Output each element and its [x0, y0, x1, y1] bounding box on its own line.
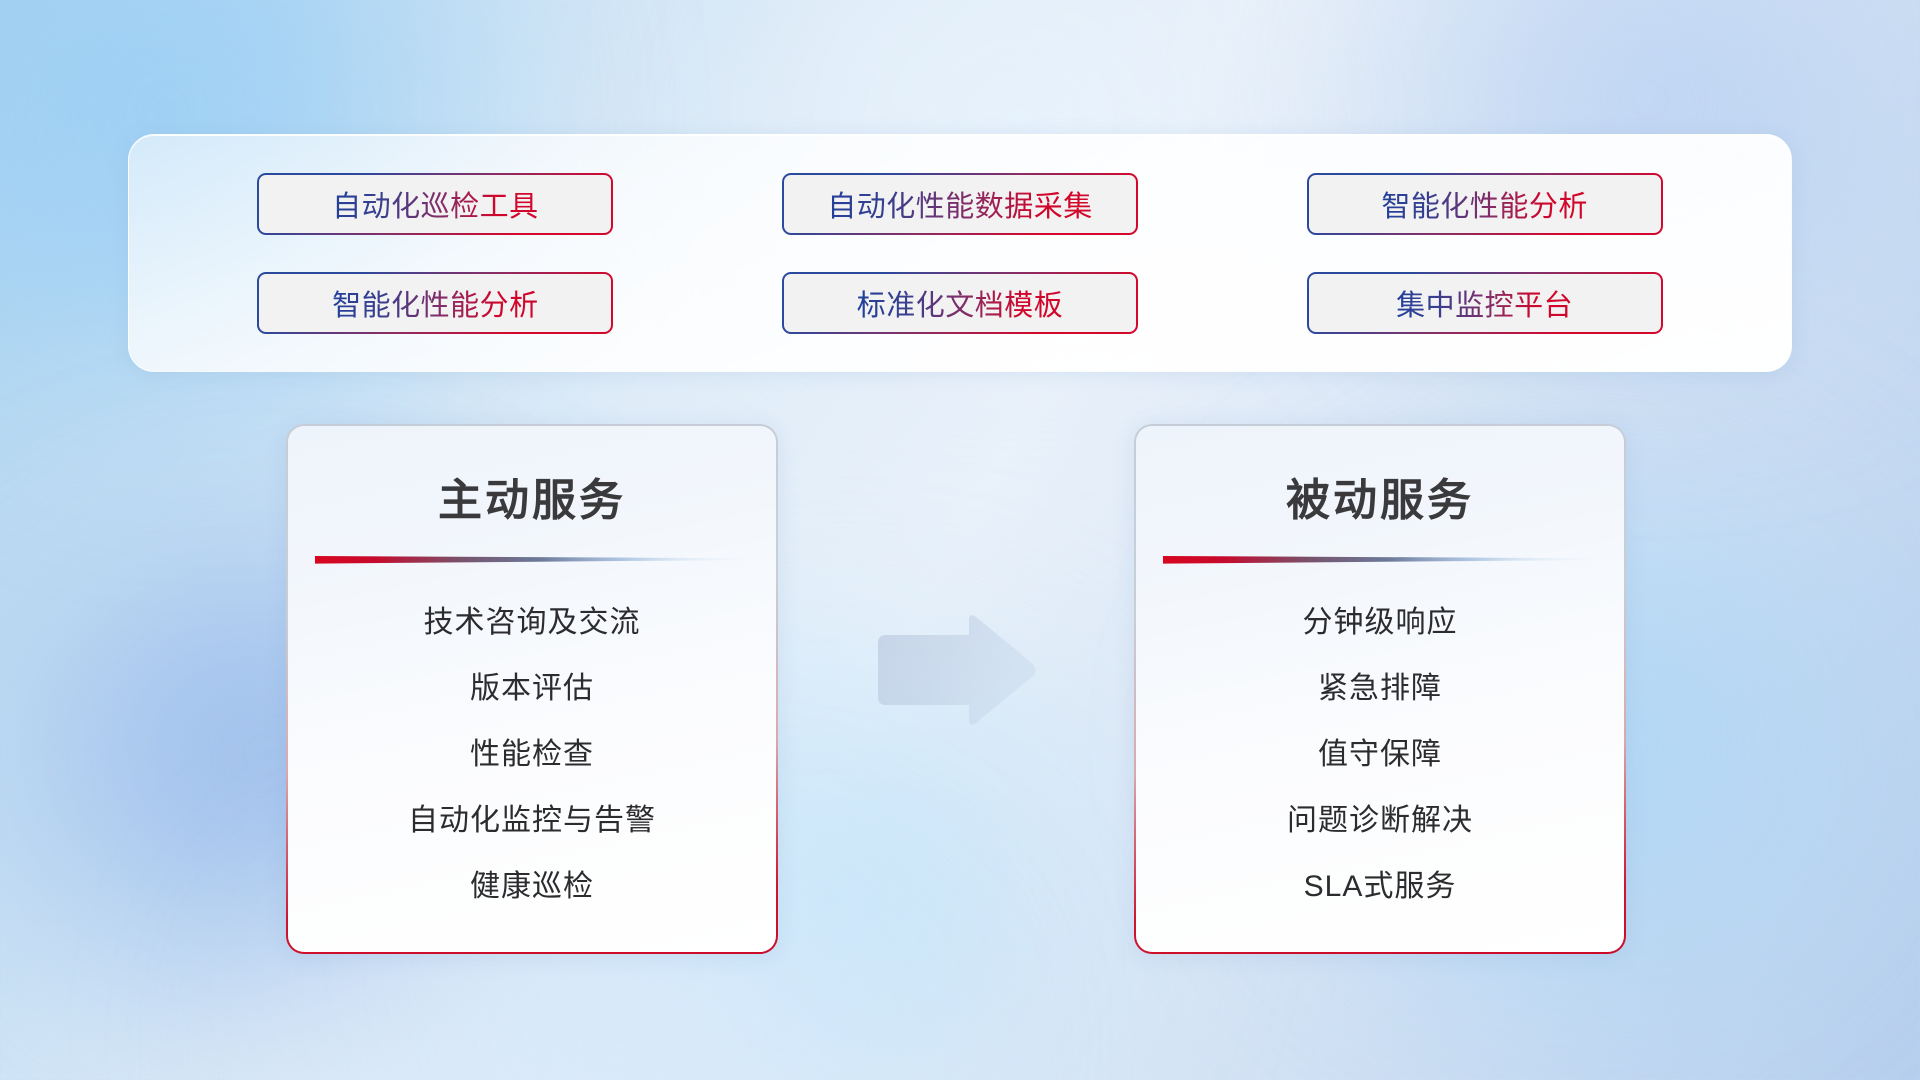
- service-item: 问题诊断解决: [1287, 788, 1473, 854]
- capability-chip-label: 集中监控平台: [1396, 282, 1573, 324]
- service-item: 健康巡检: [470, 854, 594, 920]
- service-item: 值守保障: [1318, 722, 1442, 788]
- capability-chip-label: 自动化巡检工具: [332, 183, 539, 225]
- service-card-reactive[interactable]: 被动服务 分钟级响应 紧急排障 值守保障 问题诊断解决 SLA式服务: [1134, 424, 1626, 954]
- capability-chip-label: 标准化文档模板: [857, 282, 1064, 324]
- service-item: 性能检查: [470, 722, 594, 788]
- service-item: SLA式服务: [1304, 854, 1457, 920]
- capability-chip[interactable]: 集中监控平台: [1307, 272, 1663, 334]
- title-divider: [315, 552, 749, 568]
- service-card-proactive[interactable]: 主动服务 技术咨询及交流 版本评估 性能检查 自动化监控与告警 健康巡检: [286, 424, 778, 954]
- service-card-title: 主动服务: [438, 464, 626, 528]
- capability-chip[interactable]: 自动化巡检工具: [257, 173, 613, 235]
- title-divider: [1163, 552, 1597, 568]
- capability-chip[interactable]: 标准化文档模板: [782, 272, 1138, 334]
- arrow-right-icon: [872, 611, 1040, 729]
- capability-chip-label: 智能化性能分析: [1381, 183, 1588, 225]
- service-item: 技术咨询及交流: [424, 590, 641, 656]
- capability-chip[interactable]: 智能化性能分析: [1307, 173, 1663, 235]
- capability-panel: 自动化巡检工具 自动化性能数据采集 智能化性能分析 智能化性能分析 标准化文档模…: [128, 134, 1792, 372]
- service-item-list: 分钟级响应 紧急排障 值守保障 问题诊断解决 SLA式服务: [1136, 590, 1624, 920]
- capability-chip-grid: 自动化巡检工具 自动化性能数据采集 智能化性能分析 智能化性能分析 标准化文档模…: [129, 135, 1791, 371]
- service-item: 版本评估: [470, 656, 594, 722]
- service-item: 自动化监控与告警: [408, 788, 656, 854]
- capability-chip-label: 自动化性能数据采集: [827, 183, 1093, 225]
- service-card-title: 被动服务: [1286, 464, 1474, 528]
- capability-chip-label: 智能化性能分析: [332, 282, 539, 324]
- service-item: 分钟级响应: [1303, 590, 1458, 656]
- capability-chip[interactable]: 自动化性能数据采集: [782, 173, 1138, 235]
- capability-chip[interactable]: 智能化性能分析: [257, 272, 613, 334]
- service-item: 紧急排障: [1318, 656, 1442, 722]
- service-item-list: 技术咨询及交流 版本评估 性能检查 自动化监控与告警 健康巡检: [288, 590, 776, 920]
